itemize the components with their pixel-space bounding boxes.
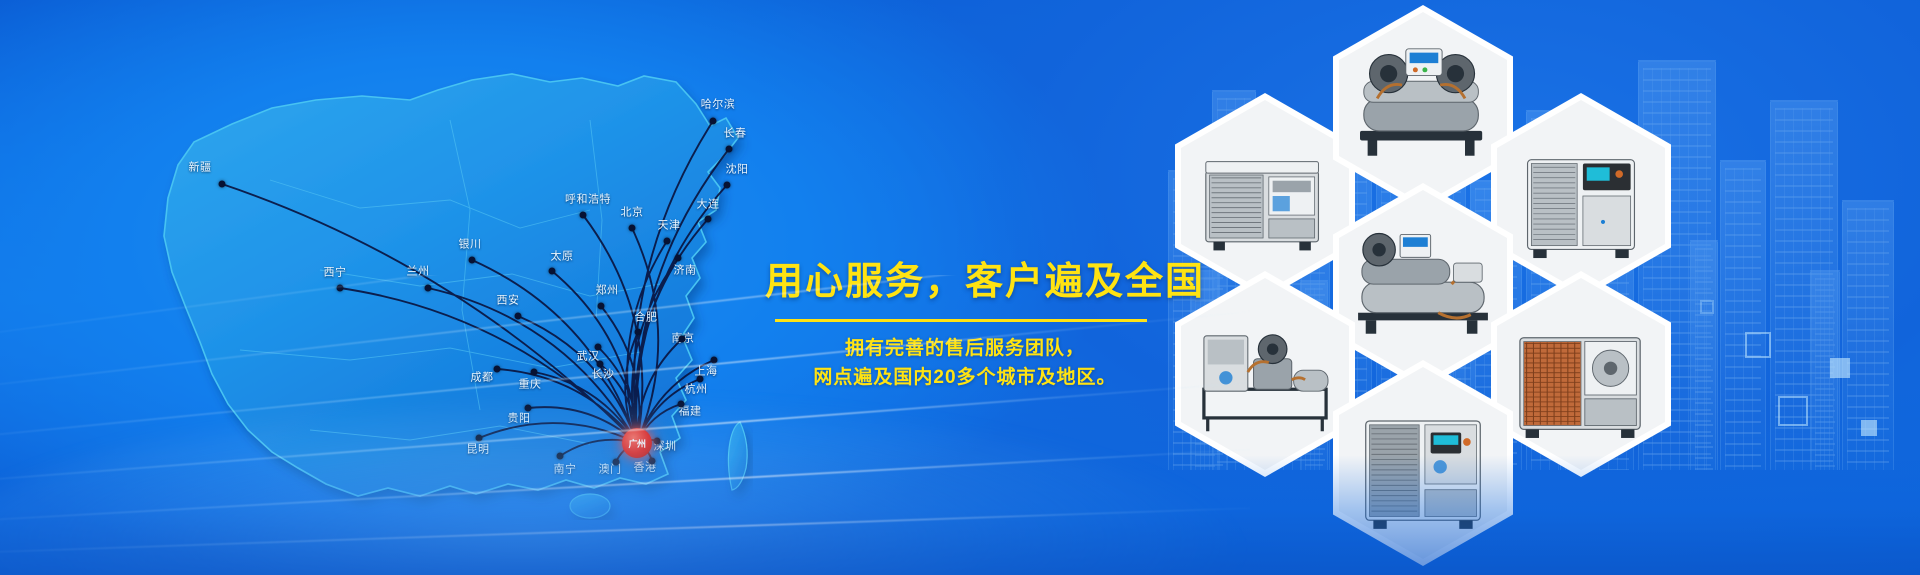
light-streak-decoration (0, 275, 1250, 575)
map-city-label-15: 大连 (697, 200, 720, 211)
map-city-dot-7[interactable] (549, 268, 556, 275)
map-city-dot-0[interactable] (219, 181, 226, 188)
product-hex-air-cooled-condensing-unit[interactable] (1175, 93, 1355, 299)
product-hex-horizontal-shell-tube-unit[interactable] (1333, 183, 1513, 389)
map-city-label-0: 新疆 (189, 163, 212, 174)
map-city-label-12: 哈尔滨 (701, 100, 736, 111)
svg-text:●: ● (1600, 217, 1606, 228)
map-city-dot-5[interactable] (629, 225, 636, 232)
product-hexagon-gallery: ● (1175, 8, 1875, 568)
map-city-dot-3[interactable] (469, 257, 476, 264)
map-city-dot-15[interactable] (705, 216, 712, 223)
map-city-label-14: 沈阳 (726, 165, 749, 176)
map-city-dot-12[interactable] (710, 118, 717, 125)
map-city-label-7: 太原 (551, 252, 574, 263)
map-city-dot-16[interactable] (675, 255, 682, 262)
map-city-label-6: 天津 (658, 221, 681, 232)
product-image-horizontal-shell-tube-unit (1339, 190, 1507, 382)
map-city-label-5: 北京 (621, 208, 644, 219)
map-city-dot-6[interactable] (664, 238, 671, 245)
product-hex-water-cooled-screw-chiller[interactable] (1333, 5, 1513, 211)
map-city-label-3: 银川 (459, 240, 482, 251)
map-city-dot-4[interactable] (580, 212, 587, 219)
promo-banner: 新疆西宁兰州银川呼和浩特北京天津太原西安郑州合肥南京哈尔滨长春沈阳大连济南上海杭… (0, 0, 1920, 575)
product-hex-compact-box-chiller[interactable]: ● (1491, 93, 1671, 299)
product-hex-industrial-water-chiller[interactable] (1333, 360, 1513, 566)
product-image-air-cooled-box-chiller (1497, 278, 1665, 470)
product-hex-air-cooled-box-chiller[interactable] (1491, 271, 1671, 477)
light-streak-4 (0, 275, 1250, 399)
product-image-industrial-water-chiller (1339, 367, 1507, 559)
map-city-label-13: 长春 (724, 129, 747, 140)
product-image-air-cooled-condensing-unit (1181, 100, 1349, 292)
map-city-dot-13[interactable] (726, 146, 733, 153)
map-city-dot-14[interactable] (724, 182, 731, 189)
map-city-label-4: 呼和浩特 (565, 195, 611, 206)
product-image-compact-box-chiller: ● (1497, 100, 1665, 292)
product-image-water-cooled-screw-chiller (1339, 12, 1507, 204)
